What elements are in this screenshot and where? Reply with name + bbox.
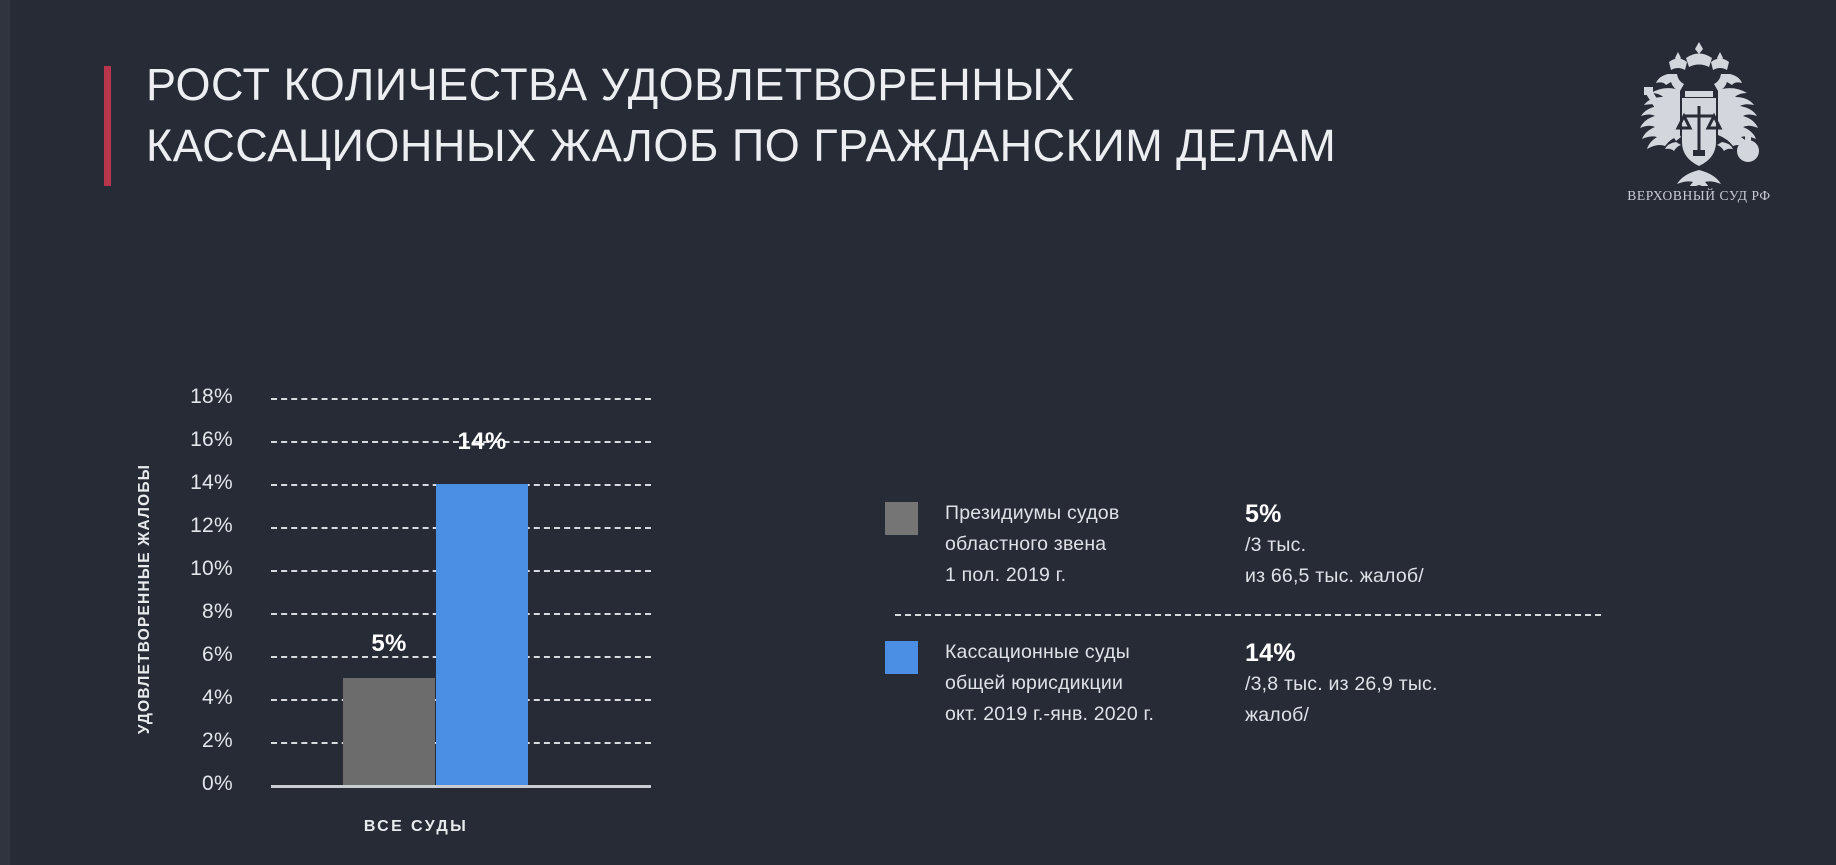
title-accent-rule	[104, 66, 111, 186]
bar-label-cassation-courts: 14%	[436, 428, 528, 456]
page-title-line-1: РОСТ КОЛИЧЕСТВА УДОВЛЕТВОРЕННЫХ	[146, 54, 1546, 115]
legend-item-presidiums[interactable]: Президиумы судов областного звена 1 пол.…	[885, 498, 1615, 592]
legend-detail-line-1: /3 тыс.	[1245, 534, 1306, 556]
legend-percent-presidiums: 5%	[1245, 498, 1615, 530]
ytick-label-2: 2%	[181, 729, 233, 753]
emblem-caption: ВЕРХОВНЫЙ СУД РФ	[1604, 188, 1794, 204]
ytick-label-12: 12%	[181, 514, 233, 538]
legend-detail-line-1: /3,8 тыс. из 26,9 тыс.	[1245, 673, 1438, 695]
ytick-label-10: 10%	[181, 557, 233, 581]
ytick-label-16: 16%	[181, 428, 233, 452]
ytick-label-4: 4%	[181, 686, 233, 710]
legend-label-line-1: Кассационные суды	[945, 641, 1130, 663]
legend-label-line-3: 1 пол. 2019 г.	[945, 564, 1066, 586]
legend-percent-cassation-courts: 14%	[1245, 637, 1615, 669]
gridline-dash-18	[271, 398, 651, 400]
chart-legend: Президиумы судов областного звена 1 пол.…	[885, 498, 1615, 731]
legend-label-line-3: окт. 2019 г.-янв. 2020 г.	[945, 703, 1154, 725]
bar-chart: УДОВЛЕТВОРЕННЫЕ ЖАЛОБЫ 18% 16% 14% 12% 1…	[140, 380, 740, 850]
page-title-line-2: КАССАЦИОННЫХ ЖАЛОБ ПО ГРАЖДАНСКИМ ДЕЛАМ	[146, 115, 1546, 176]
bar-cassation-courts[interactable]	[436, 484, 528, 785]
y-axis-title: УДОВЛЕТВОРЕННЫЕ ЖАЛОБЫ	[136, 394, 164, 804]
ytick-label-14: 14%	[181, 471, 233, 495]
legend-stat-presidiums: 5% /3 тыс. из 66,5 тыс. жалоб/	[1245, 498, 1615, 592]
slide-header: РОСТ КОЛИЧЕСТВА УДОВЛЕТВОРЕННЫХ КАССАЦИО…	[104, 60, 1604, 190]
russian-coat-of-arms-icon	[1604, 34, 1794, 186]
left-edge-strip	[0, 0, 10, 865]
plot-area: 18% 16% 14% 12% 10% 8%	[185, 380, 725, 790]
legend-label-cassation-courts: Кассационные суды общей юрисдикции окт. …	[945, 637, 1245, 730]
gridline-0: 0%	[185, 785, 725, 786]
legend-label-line-1: Президиумы судов	[945, 502, 1119, 524]
page-title: РОСТ КОЛИЧЕСТВА УДОВЛЕТВОРЕННЫХ КАССАЦИО…	[146, 54, 1546, 176]
legend-divider	[895, 614, 1601, 616]
legend-label-line-2: областного звена	[945, 533, 1106, 555]
legend-swatch-gray	[885, 502, 918, 535]
ytick-label-6: 6%	[181, 643, 233, 667]
legend-label-presidiums: Президиумы судов областного звена 1 пол.…	[945, 498, 1245, 591]
bar-presidiums[interactable]	[343, 678, 435, 786]
legend-stat-cassation-courts: 14% /3,8 тыс. из 26,9 тыс. жалоб/	[1245, 637, 1615, 731]
x-axis-line	[271, 785, 651, 788]
ytick-label-8: 8%	[181, 600, 233, 624]
x-axis-title: ВСЕ СУДЫ	[226, 818, 606, 836]
gridline-18: 18%	[185, 398, 725, 399]
ytick-label-18: 18%	[181, 385, 233, 409]
legend-detail-line-2: жалоб/	[1245, 704, 1309, 726]
bar-label-presidiums: 5%	[343, 630, 435, 658]
legend-detail-line-2: из 66,5 тыс. жалоб/	[1245, 565, 1424, 587]
legend-label-line-2: общей юрисдикции	[945, 672, 1123, 694]
legend-item-cassation-courts[interactable]: Кассационные суды общей юрисдикции окт. …	[885, 637, 1615, 731]
slide-canvas: РОСТ КОЛИЧЕСТВА УДОВЛЕТВОРЕННЫХ КАССАЦИО…	[0, 0, 1836, 865]
legend-swatch-blue	[885, 641, 918, 674]
ytick-label-0: 0%	[181, 772, 233, 796]
emblem-block: ВЕРХОВНЫЙ СУД РФ	[1604, 34, 1794, 204]
